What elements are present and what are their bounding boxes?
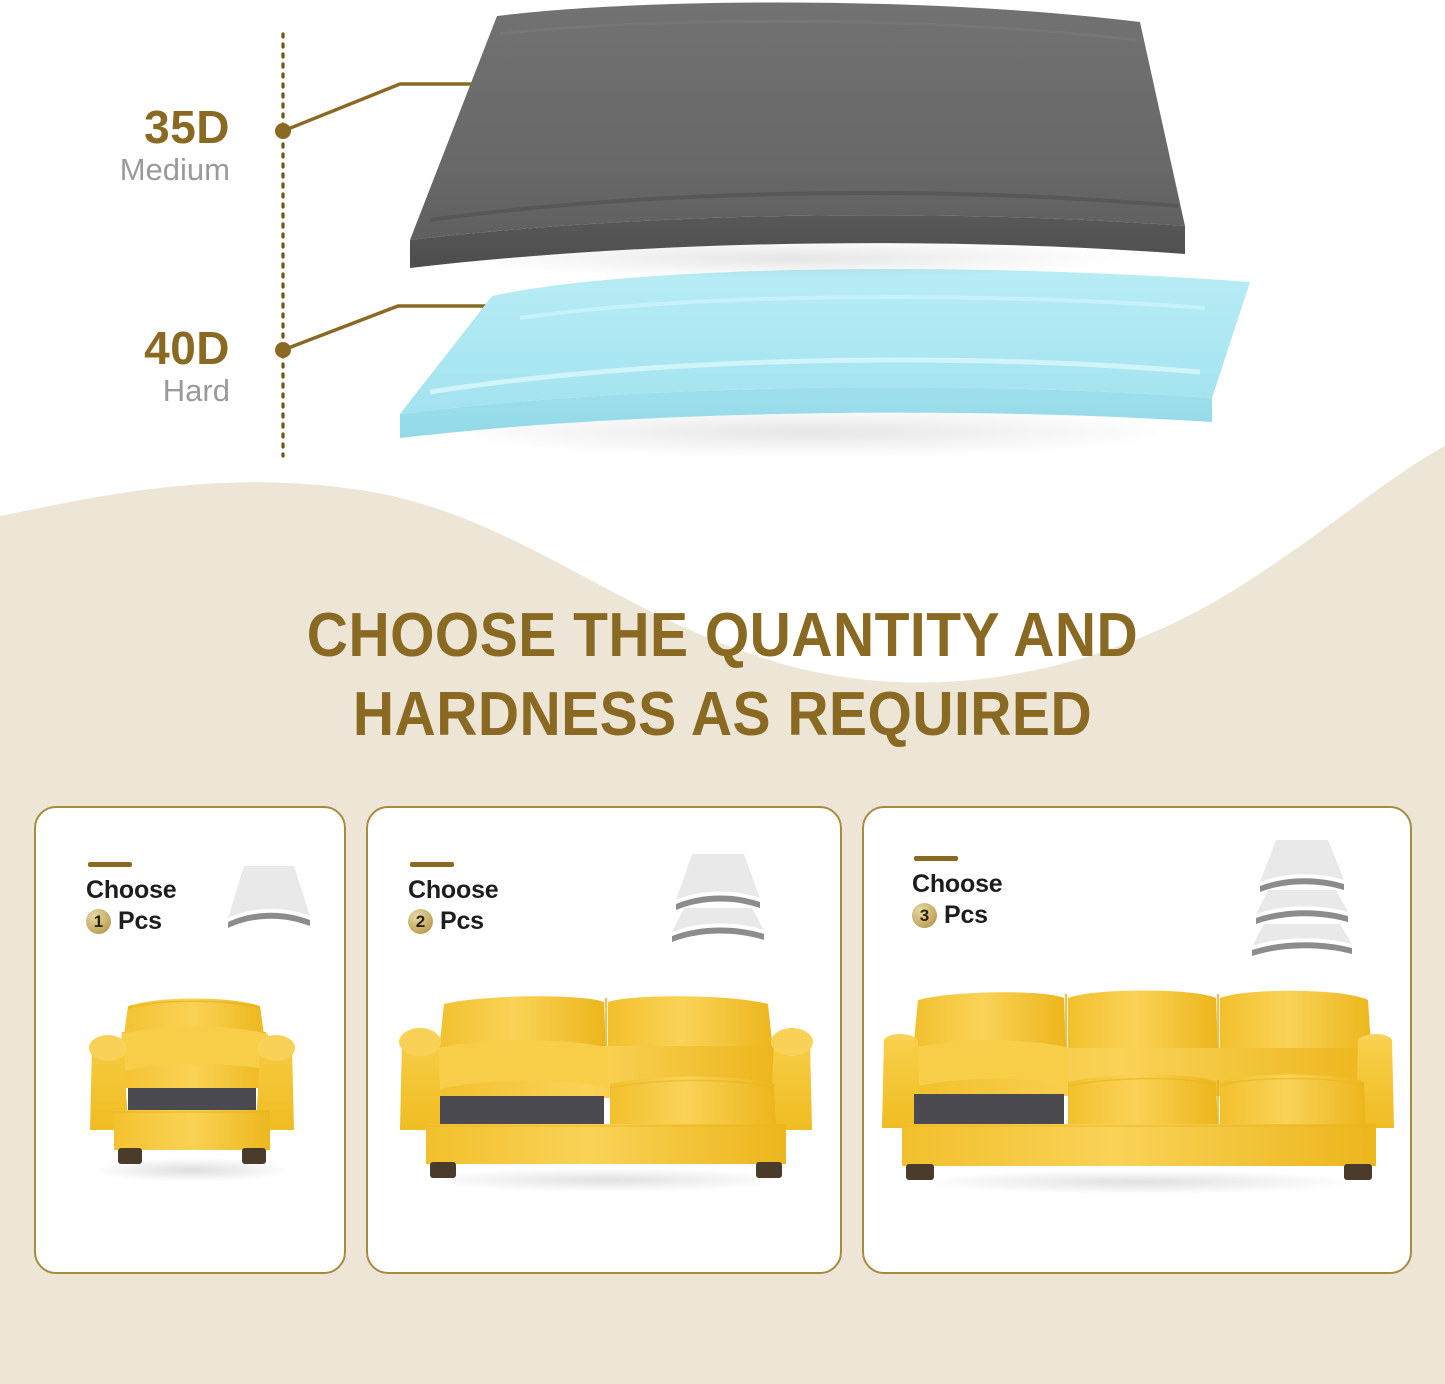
cushion-icon xyxy=(1260,840,1344,892)
headline-line-1: CHOOSE THE QUANTITY AND xyxy=(58,596,1387,675)
card-1-choose-block: Choose 1 Pcs xyxy=(86,876,176,936)
card-1-unit-label: Pcs xyxy=(118,907,162,936)
gold-dash-accent-icon xyxy=(88,862,132,867)
quantity-card-3-pcs[interactable]: Choose 3 Pcs xyxy=(862,806,1412,1274)
leader-dot-35d xyxy=(275,123,291,139)
card-2-unit-label: Pcs xyxy=(440,907,484,936)
leg xyxy=(118,1148,142,1164)
cushion-icon xyxy=(1252,924,1352,956)
foam-label-35d: 35D Medium xyxy=(0,104,230,190)
foam-slab-35d-medium xyxy=(410,2,1185,268)
leg xyxy=(242,1148,266,1164)
card-2-choose-label: Choose xyxy=(408,876,498,904)
card-1-choose-label: Choose xyxy=(86,876,176,904)
quantity-card-2-pcs[interactable]: Choose 2 Pcs xyxy=(366,806,842,1274)
foam-slab-40d-hard xyxy=(400,269,1250,438)
cushion-icon xyxy=(1256,890,1348,924)
cushion-stack-icon-2 xyxy=(658,850,778,962)
leader-dot-40d xyxy=(275,342,291,358)
cushion-stack-icon-3 xyxy=(1236,836,1366,972)
card-3-pcs-row: 3 Pcs xyxy=(912,901,1002,930)
gold-dash-accent-icon xyxy=(410,862,454,867)
page-headline: CHOOSE THE QUANTITY AND HARDNESS AS REQU… xyxy=(58,596,1387,755)
loveseat-image-2-seat xyxy=(386,984,826,1220)
card-2-header: Choose 2 Pcs xyxy=(368,808,840,958)
armchair-image-1-seat xyxy=(70,984,314,1214)
cushion-stack-icon-1 xyxy=(214,860,324,952)
leg xyxy=(756,1162,782,1178)
foam-layer-diagram: 35D Medium 40D Hard xyxy=(0,0,1445,470)
foam-density-35d: 35D xyxy=(0,104,230,151)
foam-hardness-medium: Medium xyxy=(0,151,230,190)
leg xyxy=(906,1164,934,1180)
cushion-icon xyxy=(228,866,310,928)
card-3-header: Choose 3 Pcs xyxy=(864,808,1410,958)
sofa-image-3-seat xyxy=(878,978,1398,1220)
card-2-count-badge: 2 xyxy=(408,909,433,934)
card-1-count-badge: 1 xyxy=(86,909,111,934)
cushion-icon xyxy=(672,908,764,942)
foam-density-40d: 40D xyxy=(0,325,230,372)
leg xyxy=(1344,1164,1372,1180)
headline-line-2: HARDNESS AS REQUIRED xyxy=(58,675,1387,754)
card-2-choose-block: Choose 2 Pcs xyxy=(408,876,498,936)
quantity-options-row: Choose 1 Pcs xyxy=(34,806,1412,1274)
cushion-icon xyxy=(676,854,760,910)
card-3-choose-block: Choose 3 Pcs xyxy=(912,870,1002,930)
leg xyxy=(430,1162,456,1178)
gold-dash-accent-icon xyxy=(914,856,958,861)
card-1-header: Choose 1 Pcs xyxy=(36,808,344,958)
card-2-pcs-row: 2 Pcs xyxy=(408,907,498,936)
foam-label-40d: 40D Hard xyxy=(0,325,230,411)
card-3-count-badge: 3 xyxy=(912,903,937,928)
card-3-unit-label: Pcs xyxy=(944,901,988,930)
card-3-choose-label: Choose xyxy=(912,870,1002,898)
quantity-card-1-pcs[interactable]: Choose 1 Pcs xyxy=(34,806,346,1274)
foam-hardness-hard: Hard xyxy=(0,372,230,411)
card-1-pcs-row: 1 Pcs xyxy=(86,907,176,936)
